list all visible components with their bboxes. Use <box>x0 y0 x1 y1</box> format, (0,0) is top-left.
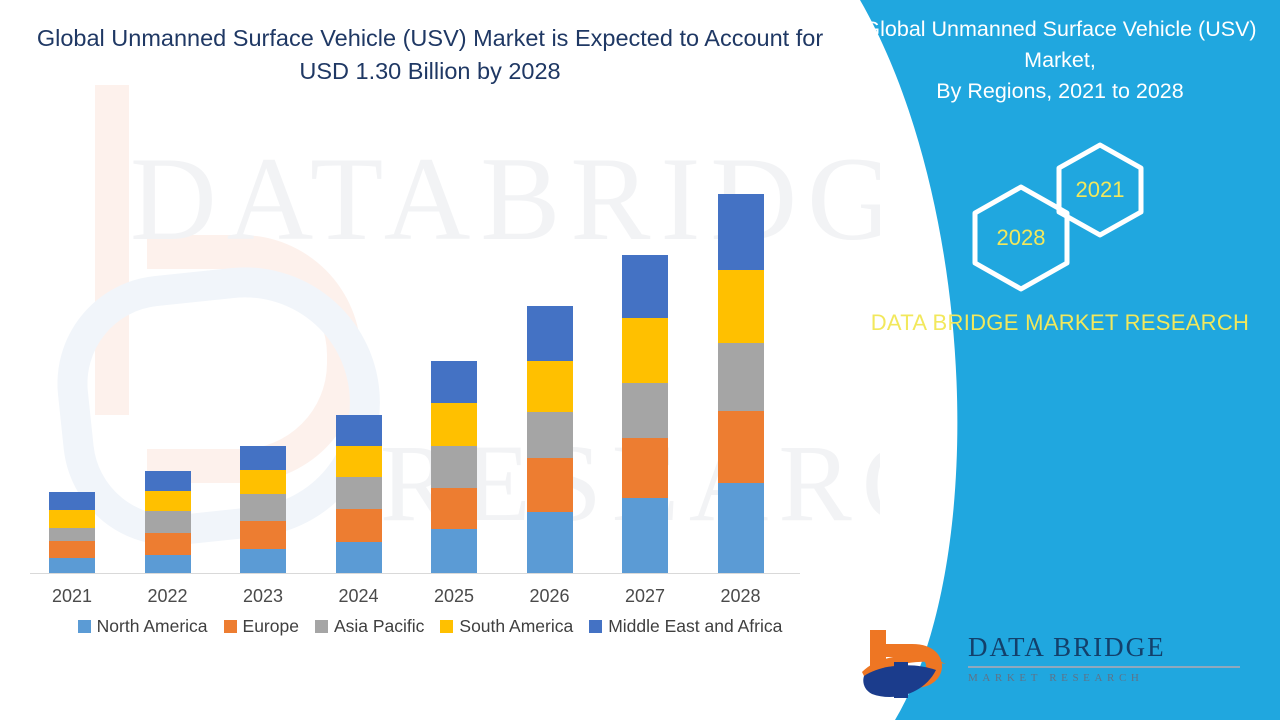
bar-segment <box>527 458 573 512</box>
bar-segment <box>336 509 382 542</box>
bar-segment <box>527 412 573 458</box>
bar-segment <box>431 488 477 529</box>
x-axis-line <box>30 573 800 574</box>
logo-subtitle: MARKET RESEARCH <box>968 672 1248 684</box>
x-axis-tick-labels: 20212022202320242025202620272028 <box>30 586 820 610</box>
legend-item[interactable]: Asia Pacific <box>315 616 424 637</box>
bar-stack-2021 <box>49 492 95 573</box>
legend-label: South America <box>459 616 573 637</box>
x-tick-label-2028: 2028 <box>701 586 781 607</box>
bar-segment <box>622 383 668 438</box>
bar-segment <box>527 361 573 412</box>
bar-segment <box>431 403 477 446</box>
logo-title: DATA BRIDGE <box>968 634 1248 661</box>
legend-label: Middle East and Africa <box>608 616 782 637</box>
bar-segment <box>622 255 668 318</box>
bar-segment <box>145 511 191 533</box>
bar-stack-2025 <box>431 361 477 573</box>
chart-legend: North AmericaEuropeAsia PacificSouth Ame… <box>30 616 830 637</box>
legend-item[interactable]: North America <box>78 616 208 637</box>
bar-segment <box>431 446 477 488</box>
x-tick-label-2023: 2023 <box>223 586 303 607</box>
bar-segment <box>622 438 668 498</box>
bar-segment <box>240 494 286 521</box>
legend-swatch-icon <box>315 620 328 633</box>
x-tick-label-2026: 2026 <box>510 586 590 607</box>
bar-segment <box>145 555 191 573</box>
logo-divider <box>968 666 1240 668</box>
bar-stack-2028 <box>718 194 764 573</box>
bar-segment <box>718 411 764 483</box>
page-title: Global Unmanned Surface Vehicle (USV) Ma… <box>20 22 840 89</box>
data-bridge-logo-mark <box>860 624 956 700</box>
hexagon-badge-2028: 2028 <box>965 182 1077 294</box>
x-tick-label-2021: 2021 <box>32 586 112 607</box>
bar-segment <box>240 521 286 549</box>
bar-segment <box>240 549 286 573</box>
legend-item[interactable]: Europe <box>224 616 299 637</box>
bar-segment <box>718 270 764 343</box>
legend-label: Europe <box>243 616 299 637</box>
bar-segment <box>622 318 668 383</box>
bar-stack-2026 <box>527 306 573 573</box>
bar-segment <box>527 512 573 573</box>
bar-segment <box>240 446 286 470</box>
stacked-bar-chart <box>30 150 820 574</box>
bar-stack-2023 <box>240 446 286 573</box>
hexagon-2021-label: 2021 <box>1076 177 1125 203</box>
legend-swatch-icon <box>78 620 91 633</box>
chart-panel: DATABRIDGE RESEARCH Global Unmanned Surf… <box>0 0 880 720</box>
legend-label: Asia Pacific <box>334 616 424 637</box>
bar-segment <box>336 477 382 509</box>
bar-segment <box>145 533 191 555</box>
bar-segment <box>240 470 286 494</box>
bar-stack-2024 <box>336 415 382 573</box>
chart-plot-area <box>30 150 820 574</box>
legend-swatch-icon <box>224 620 237 633</box>
bar-segment <box>49 558 95 573</box>
bar-segment <box>622 498 668 573</box>
x-tick-label-2027: 2027 <box>605 586 685 607</box>
bar-segment <box>527 306 573 361</box>
bar-segment <box>718 483 764 573</box>
panel-title: Global Unmanned Surface Vehicle (USV) Ma… <box>850 14 1270 108</box>
bar-segment <box>718 343 764 411</box>
logo-wordmark: DATA BRIDGE MARKET RESEARCH <box>968 634 1248 684</box>
hexagon-2028-label: 2028 <box>997 225 1046 251</box>
x-tick-label-2024: 2024 <box>319 586 399 607</box>
branding-panel: Global Unmanned Surface Vehicle (USV) Ma… <box>840 0 1280 720</box>
legend-item[interactable]: South America <box>440 616 573 637</box>
legend-swatch-icon <box>589 620 602 633</box>
bar-segment <box>336 415 382 446</box>
x-tick-label-2022: 2022 <box>128 586 208 607</box>
bar-segment <box>49 492 95 510</box>
bar-segment <box>49 528 95 541</box>
bar-stack-2027 <box>622 255 668 573</box>
bar-segment <box>49 541 95 558</box>
bar-segment <box>336 542 382 573</box>
legend-label: North America <box>97 616 208 637</box>
bar-segment <box>336 446 382 477</box>
infographic-page: DATABRIDGE RESEARCH Global Unmanned Surf… <box>0 0 1280 720</box>
company-logo: DATA BRIDGE MARKET RESEARCH <box>860 620 1260 704</box>
bar-segment <box>718 194 764 270</box>
x-tick-label-2025: 2025 <box>414 586 494 607</box>
brand-name-text: DATA BRIDGE MARKET RESEARCH <box>870 308 1250 338</box>
bar-stack-2022 <box>145 471 191 573</box>
legend-swatch-icon <box>440 620 453 633</box>
bar-segment <box>431 361 477 403</box>
bar-segment <box>49 510 95 528</box>
legend-item[interactable]: Middle East and Africa <box>589 616 782 637</box>
bar-segment <box>145 491 191 511</box>
bar-segment <box>431 529 477 573</box>
bar-segment <box>145 471 191 491</box>
